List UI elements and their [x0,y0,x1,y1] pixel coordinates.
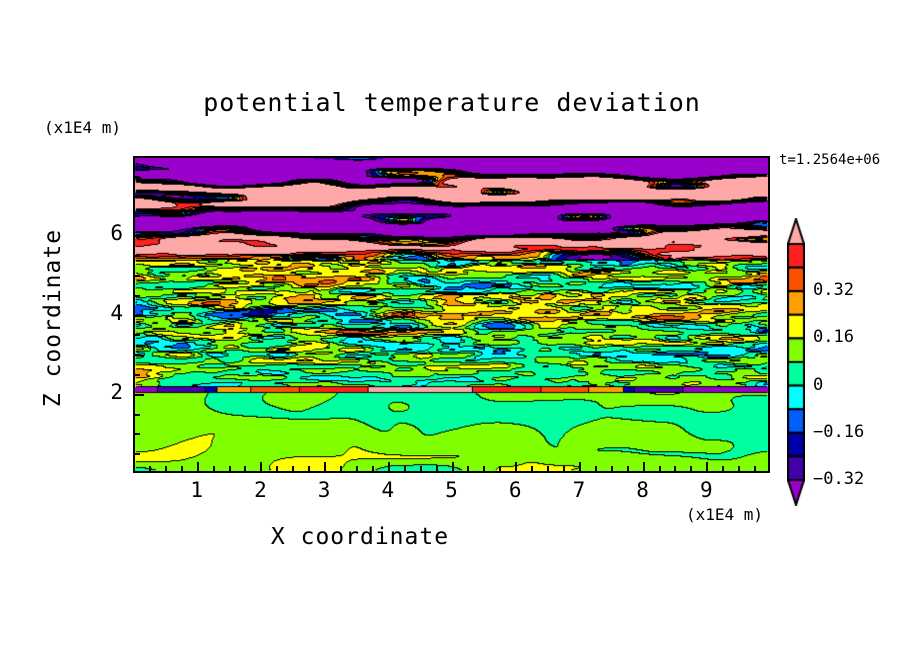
x-tick [643,462,645,472]
y-tick-label: 4 [97,301,123,325]
x-tick-label: 5 [432,478,472,502]
x-tick [420,466,422,472]
x-tick [436,466,438,472]
y-tick [134,235,144,237]
x-tick [197,462,199,472]
x-axis-label: X coordinate [0,524,720,550]
x-tick [165,466,167,472]
y-tick [134,354,140,356]
x-axis-unit-label: (x1E4 m) [686,505,763,524]
y-tick [134,196,140,198]
y-tick-label: 6 [97,221,123,245]
colorbar-gradient [787,218,805,506]
x-tick-label: 8 [623,478,663,502]
x-tick [706,462,708,472]
x-tick [515,462,517,472]
x-tick [563,466,565,472]
y-tick [134,215,140,217]
x-tick [595,466,597,472]
x-tick [483,466,485,472]
x-tick [404,466,406,472]
x-tick [260,462,262,472]
x-tick [356,466,358,472]
x-tick [213,466,215,472]
y-tick [134,275,140,277]
x-tick [659,466,661,472]
x-tick [547,466,549,472]
contour-field [135,158,768,471]
x-tick [611,466,613,472]
y-tick [134,295,140,297]
x-tick [452,462,454,472]
y-tick [134,374,140,376]
y-tick [134,453,140,455]
colorbar-tick-label: −0.32 [813,469,864,489]
x-tick-label: 4 [368,478,408,502]
y-tick [134,255,140,257]
x-tick-label: 3 [304,478,344,502]
x-tick [340,466,342,472]
x-tick [276,466,278,472]
y-tick [134,176,140,178]
colorbar-tick-label: 0.32 [813,280,854,300]
y-axis-label: Z coordinate [40,203,66,433]
x-tick [149,466,151,472]
x-tick-label: 1 [177,478,217,502]
x-tick-label: 7 [559,478,599,502]
x-tick [499,466,501,472]
colorbar-tick-label: 0.16 [813,327,854,347]
y-tick [134,334,140,336]
time-annotation: t=1.2564e+06 [779,152,880,168]
colorbar-tick-label: 0 [813,375,823,395]
y-axis-unit-label: (x1E4 m) [44,118,121,137]
x-tick-label: 2 [240,478,280,502]
y-tick [134,394,144,396]
x-tick [324,462,326,472]
page-title: potential temperature deviation [0,88,904,117]
x-tick [531,466,533,472]
x-tick [722,466,724,472]
x-tick-label: 6 [495,478,535,502]
x-tick [388,462,390,472]
x-tick [467,466,469,472]
contour-plot-area[interactable] [133,156,770,473]
x-tick [308,466,310,472]
y-tick [134,414,140,416]
y-tick [134,315,144,317]
x-tick-label: 9 [686,478,726,502]
colorbar[interactable] [787,218,805,506]
y-tick [134,433,140,435]
x-tick [244,466,246,472]
x-tick [754,466,756,472]
y-tick-label: 2 [97,380,123,404]
x-tick [674,466,676,472]
x-tick [181,466,183,472]
x-tick [229,466,231,472]
x-tick [372,466,374,472]
x-tick [292,466,294,472]
x-tick [627,466,629,472]
x-tick [690,466,692,472]
x-tick [738,466,740,472]
x-tick [579,462,581,472]
colorbar-tick-label: −0.16 [813,422,864,442]
